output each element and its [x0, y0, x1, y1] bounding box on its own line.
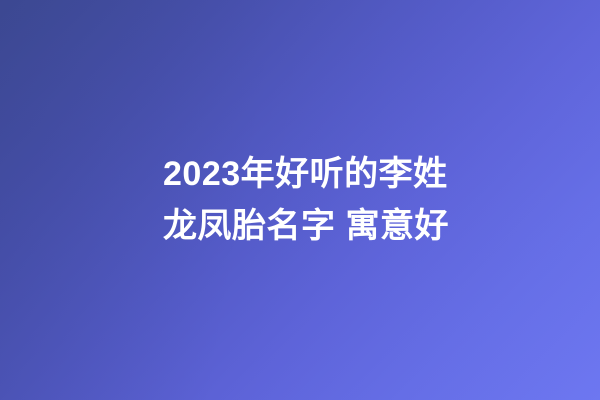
headline-line-2: 龙凤胎名字 寓意好	[163, 200, 563, 252]
headline-block: 2023年好听的李姓 龙凤胎名字 寓意好	[163, 0, 563, 400]
headline-line-1: 2023年好听的李姓	[163, 148, 563, 200]
banner-image: 2023年好听的李姓 龙凤胎名字 寓意好	[0, 0, 600, 400]
